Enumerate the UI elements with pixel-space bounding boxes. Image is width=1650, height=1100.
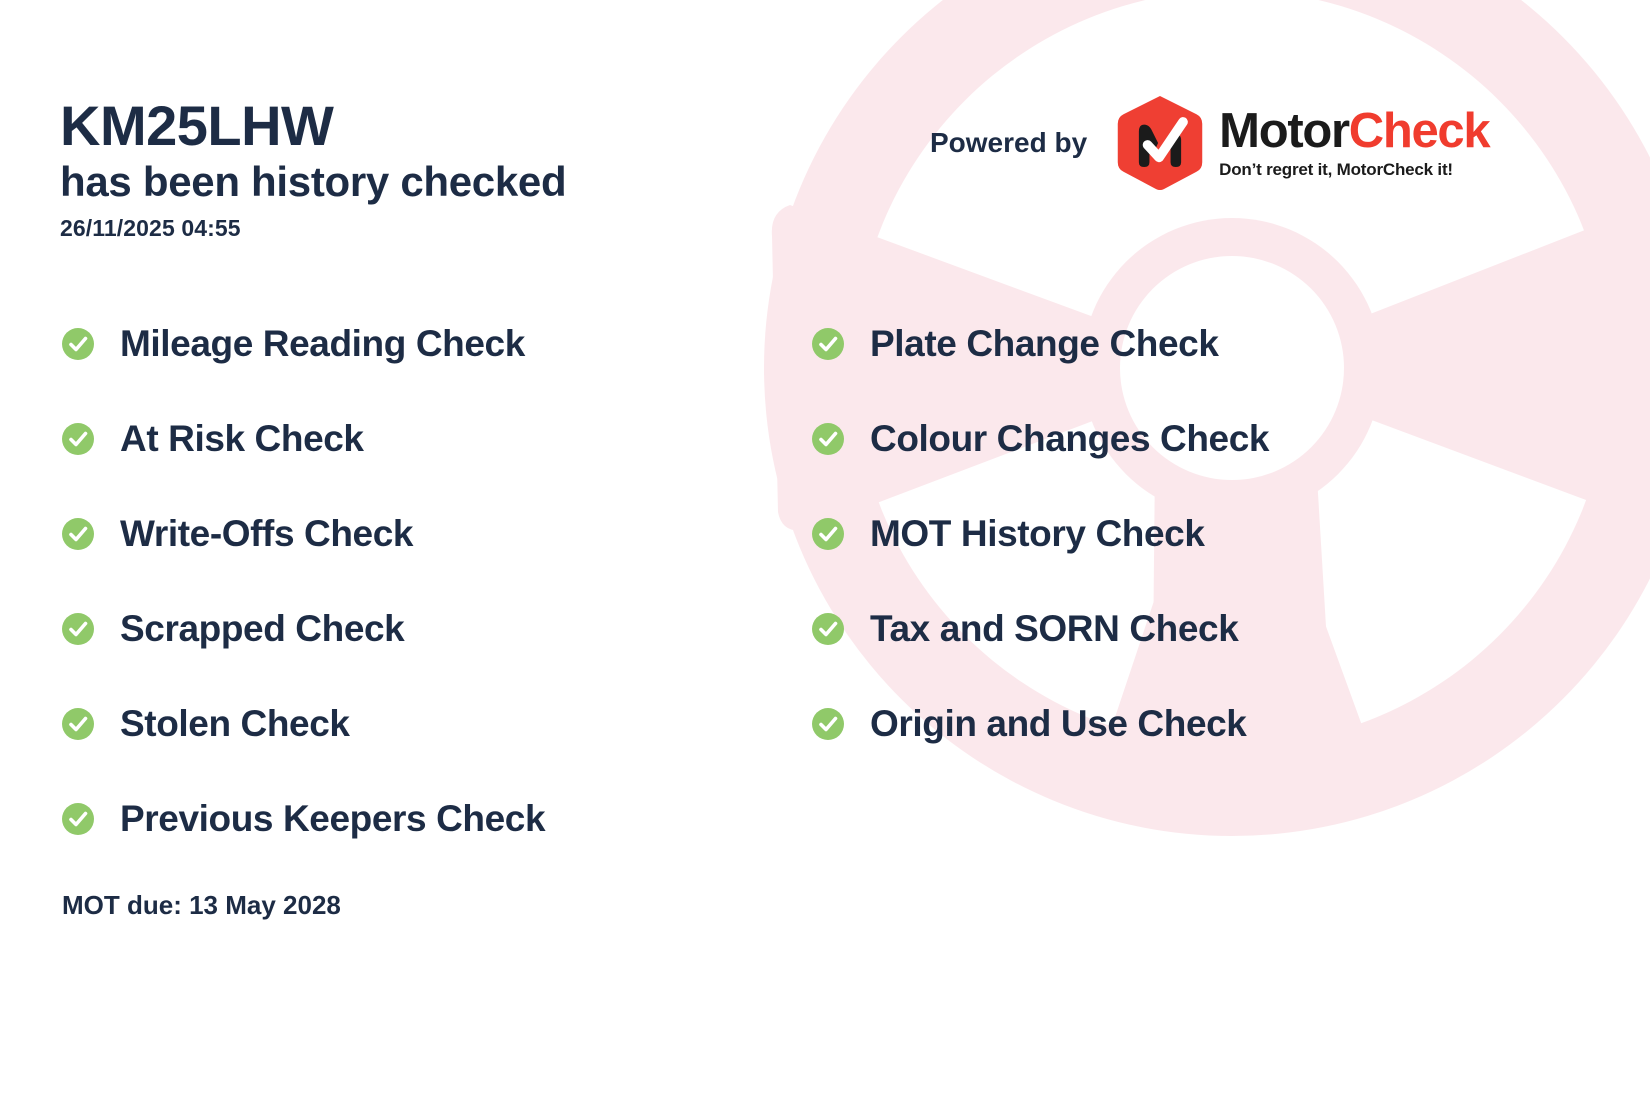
check-item-label: Previous Keepers Check bbox=[120, 798, 545, 840]
check-timestamp: 26/11/2025 04:55 bbox=[60, 215, 566, 242]
check-item-scrapped: Scrapped Check bbox=[62, 605, 545, 653]
brand-name-check: Check bbox=[1349, 104, 1490, 158]
check-circle-icon bbox=[62, 328, 94, 360]
brand-name: MotorCheck bbox=[1219, 107, 1489, 156]
powered-by-label: Powered by bbox=[930, 127, 1087, 159]
motorcheck-wordmark: MotorCheck Don’t regret it, MotorCheck i… bbox=[1219, 107, 1489, 180]
check-item-label: Colour Changes Check bbox=[870, 418, 1269, 460]
check-item-at-risk: At Risk Check bbox=[62, 415, 545, 463]
check-item-label: Origin and Use Check bbox=[870, 703, 1247, 745]
check-circle-icon bbox=[62, 613, 94, 645]
check-item-stolen: Stolen Check bbox=[62, 700, 545, 748]
history-check-card: KM25LHW has been history checked 26/11/2… bbox=[0, 0, 1650, 1100]
check-item-plate-change: Plate Change Check bbox=[812, 320, 1269, 368]
check-item-tax-and-sorn: Tax and SORN Check bbox=[812, 605, 1269, 653]
checks-column-right: Plate Change Check Colour Changes Check … bbox=[812, 320, 1269, 795]
check-item-label: Mileage Reading Check bbox=[120, 323, 525, 365]
check-circle-icon bbox=[812, 613, 844, 645]
powered-by-block: Powered by MotorCheck Don’t regret it, M… bbox=[930, 95, 1489, 191]
check-circle-icon bbox=[62, 518, 94, 550]
check-item-label: Scrapped Check bbox=[120, 608, 404, 650]
brand-name-motor: Motor bbox=[1219, 104, 1349, 158]
check-item-previous-keepers: Previous Keepers Check bbox=[62, 795, 545, 843]
page-subtitle: has been history checked bbox=[60, 158, 566, 206]
check-item-label: Plate Change Check bbox=[870, 323, 1219, 365]
check-circle-icon bbox=[812, 708, 844, 740]
check-item-label: Tax and SORN Check bbox=[870, 608, 1238, 650]
check-item-label: Stolen Check bbox=[120, 703, 350, 745]
check-item-mot-history: MOT History Check bbox=[812, 510, 1269, 558]
check-circle-icon bbox=[62, 423, 94, 455]
mot-due-date: MOT due: 13 May 2028 bbox=[62, 890, 341, 921]
check-item-origin-and-use: Origin and Use Check bbox=[812, 700, 1269, 748]
check-item-label: Write-Offs Check bbox=[120, 513, 413, 555]
check-item-colour-changes: Colour Changes Check bbox=[812, 415, 1269, 463]
check-circle-icon bbox=[812, 518, 844, 550]
check-item-write-offs: Write-Offs Check bbox=[62, 510, 545, 558]
check-item-label: At Risk Check bbox=[120, 418, 364, 460]
check-item-mileage-reading: Mileage Reading Check bbox=[62, 320, 545, 368]
check-circle-icon bbox=[62, 708, 94, 740]
check-circle-icon bbox=[812, 423, 844, 455]
brand-tagline: Don’t regret it, MotorCheck it! bbox=[1219, 160, 1489, 180]
check-circle-icon bbox=[62, 803, 94, 835]
card-header: KM25LHW has been history checked 26/11/2… bbox=[60, 96, 566, 242]
vehicle-registration-plate: KM25LHW bbox=[60, 96, 566, 156]
check-item-label: MOT History Check bbox=[870, 513, 1205, 555]
check-circle-icon bbox=[812, 328, 844, 360]
checks-column-left: Mileage Reading Check At Risk Check Writ… bbox=[62, 320, 545, 890]
motorcheck-hexagon-logo-icon bbox=[1115, 95, 1205, 191]
